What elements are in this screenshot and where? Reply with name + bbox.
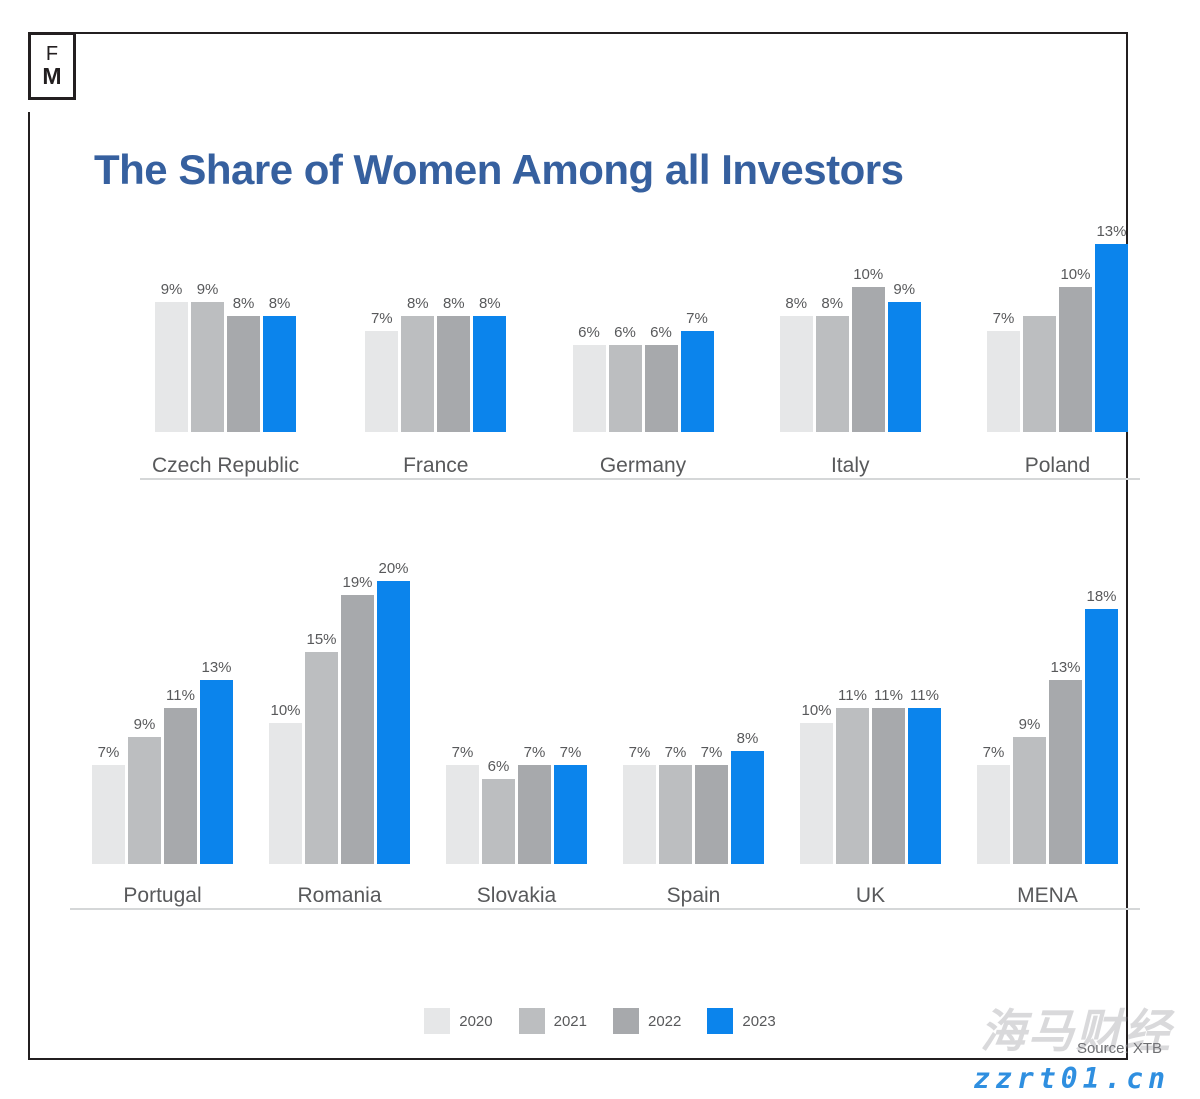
bar-column: 19% [341,595,374,864]
bar-value-label: 11% [838,687,867,704]
bar-group: 7%9%13%18%MENA [977,560,1118,908]
bar-2023 [263,316,296,432]
bar-column: 8% [227,316,260,432]
watermark-url: zzrt01.cn [973,1062,1170,1095]
bar-2020 [365,331,398,433]
bar-value-label: 7% [371,310,393,327]
bar-2022 [645,345,678,432]
chart-legend: 2020202120222023 [0,1008,1200,1034]
bar-group-bars: 7%6%7%7% [446,765,587,864]
bar-value-label: 11% [910,687,939,704]
bar-column: 13% [1049,680,1082,864]
bar-2023 [200,680,233,864]
bar-value-label: 18% [1086,588,1116,605]
bar-2020 [987,331,1020,433]
bar-2021 [1023,316,1056,432]
bar-value-label: 15% [306,631,336,648]
legend-item-2021[interactable]: 2021 [519,1008,587,1034]
bar-column: 20% [377,581,410,864]
bar-groups-row-1: 9%9%8%8%Czech Republic7%8%8%8%France6%6%… [140,240,1140,478]
bar-2022 [695,765,728,864]
bar-column: 9% [191,302,224,433]
bar-2022 [1059,287,1092,432]
bar-2021 [609,345,642,432]
bar-value-label: 7% [686,310,708,327]
category-label: Portugal [123,884,201,908]
bar-2023 [888,302,921,433]
bar-2020 [92,765,125,864]
bar-value-label: 10% [801,702,831,719]
bar-column: 11% [836,708,869,864]
bar-value-label: 9% [893,281,915,298]
bar-group: 7%10%13%Poland [987,240,1128,478]
bar-group-bars: 10%15%19%20% [269,581,410,864]
bar-value-label: 6% [578,324,600,341]
fm-logo: F M [28,32,76,100]
bar-column: 8% [437,316,470,432]
bar-2021 [401,316,434,432]
axis-baseline-row-2 [70,908,1140,910]
bar-2020 [800,723,833,865]
logo-letter-f: F [46,44,58,64]
bar-column: 10% [800,723,833,865]
bar-group: 6%6%6%7%Germany [573,240,714,478]
bar-2022 [341,595,374,864]
bar-value-label: 7% [629,744,651,761]
bar-column: 7% [92,765,125,864]
chart-row-2: 7%9%11%13%Portugal10%15%19%20%Romania7%6… [70,560,1140,912]
bar-groups-row-2: 7%9%11%13%Portugal10%15%19%20%Romania7%6… [70,560,1140,908]
bar-2020 [780,316,813,432]
bar-2020 [623,765,656,864]
bar-value-label: 7% [993,310,1015,327]
bar-value-label: 6% [488,758,510,775]
legend-label: 2022 [648,1013,681,1030]
bar-2023 [377,581,410,864]
bar-2022 [852,287,885,432]
frame-bottom-border [28,1058,1128,1060]
bar-value-label: 13% [201,659,231,676]
bar-value-label: 10% [270,702,300,719]
bar-value-label: 8% [269,295,291,312]
bar-column [1023,316,1056,432]
legend-label: 2020 [459,1013,492,1030]
bar-column: 10% [1059,287,1092,432]
bar-value-label: 8% [737,730,759,747]
bar-value-label: 6% [614,324,636,341]
bar-column: 13% [200,680,233,864]
bar-column: 9% [155,302,188,433]
bar-group-bars: 9%9%8%8% [155,302,296,433]
bar-value-label: 7% [98,744,120,761]
bar-2022 [872,708,905,864]
category-label: France [403,454,468,478]
category-label: Romania [297,884,381,908]
bar-column: 13% [1095,244,1128,433]
bar-group: 9%9%8%8%Czech Republic [152,240,299,478]
bar-value-label: 7% [524,744,546,761]
legend-swatch-icon [424,1008,450,1034]
bar-column: 15% [305,652,338,864]
bar-column: 11% [164,708,197,864]
category-label: Czech Republic [152,454,299,478]
bar-value-label: 10% [1060,266,1090,283]
bar-column: 7% [446,765,479,864]
bar-value-label: 8% [479,295,501,312]
bar-2021 [1013,737,1046,864]
bar-value-label: 10% [853,266,883,283]
bar-column: 7% [977,765,1010,864]
category-label: Spain [667,884,721,908]
bar-2023 [1095,244,1128,433]
bar-column: 7% [518,765,551,864]
bar-2021 [816,316,849,432]
bar-value-label: 8% [785,295,807,312]
bar-column: 8% [401,316,434,432]
bar-group-bars: 7%8%8%8% [365,316,506,432]
bar-value-label: 19% [342,574,372,591]
category-label: UK [856,884,885,908]
frame-top-border [28,32,1128,34]
bar-value-label: 9% [1019,716,1041,733]
category-label: Poland [1025,454,1090,478]
bar-value-label: 9% [197,281,219,298]
bar-2023 [554,765,587,864]
bar-column: 7% [659,765,692,864]
bar-column: 7% [623,765,656,864]
bar-group: 10%15%19%20%Romania [269,560,410,908]
bar-group: 7%7%7%8%Spain [623,560,764,908]
bar-2023 [473,316,506,432]
bar-column: 7% [695,765,728,864]
page-title: The Share of Women Among all Investors [94,146,903,194]
bar-2023 [908,708,941,864]
bar-2022 [437,316,470,432]
bar-group-bars: 7%10%13% [987,244,1128,433]
bar-column: 8% [473,316,506,432]
logo-letter-m: M [42,65,61,88]
bar-column: 8% [816,316,849,432]
bar-column: 6% [573,345,606,432]
bar-group-bars: 8%8%10%9% [780,287,921,432]
bar-value-label: 11% [166,687,195,704]
bar-column: 10% [269,723,302,865]
bar-column: 8% [780,316,813,432]
bar-2021 [128,737,161,864]
bar-value-label: 8% [443,295,465,312]
legend-swatch-icon [519,1008,545,1034]
bar-column: 10% [852,287,885,432]
bar-value-label: 9% [134,716,156,733]
axis-baseline-row-1 [140,478,1140,480]
bar-value-label: 9% [161,281,183,298]
bar-column: 9% [888,302,921,433]
bar-column: 7% [987,331,1020,433]
bar-group-bars: 6%6%6%7% [573,331,714,433]
bar-column: 18% [1085,609,1118,864]
bar-2020 [269,723,302,865]
bar-2023 [681,331,714,433]
bar-column: 6% [609,345,642,432]
bar-value-label: 7% [560,744,582,761]
bar-group-bars: 7%9%11%13% [92,680,233,864]
bar-column: 9% [128,737,161,864]
bar-column: 11% [872,708,905,864]
bar-value-label: 20% [378,560,408,577]
bar-2020 [155,302,188,433]
bar-2021 [305,652,338,864]
legend-item-2020[interactable]: 2020 [424,1008,492,1034]
bar-group-bars: 10%11%11%11% [800,708,941,864]
bar-value-label: 6% [650,324,672,341]
bar-group-bars: 7%7%7%8% [623,751,764,864]
bar-group: 10%11%11%11%UK [800,560,941,908]
bar-2022 [1049,680,1082,864]
bar-2022 [227,316,260,432]
bar-value-label: 8% [407,295,429,312]
bar-value-label: 8% [233,295,255,312]
bar-group: 8%8%10%9%Italy [780,240,921,478]
legend-label: 2021 [554,1013,587,1030]
bar-column: 6% [482,779,515,864]
category-label: MENA [1017,884,1078,908]
bar-column: 7% [681,331,714,433]
bar-value-label: 7% [452,744,474,761]
bar-2020 [446,765,479,864]
source-note: Source: XTB [1077,1040,1162,1057]
bar-column: 6% [645,345,678,432]
bar-value-label: 7% [665,744,687,761]
legend-swatch-icon [707,1008,733,1034]
bar-column: 7% [554,765,587,864]
bar-2022 [518,765,551,864]
category-label: Germany [600,454,686,478]
bar-2020 [573,345,606,432]
bar-column: 8% [731,751,764,864]
bar-value-label: 7% [701,744,723,761]
bar-2021 [191,302,224,433]
bar-2023 [1085,609,1118,864]
category-label: Italy [831,454,870,478]
legend-swatch-icon [613,1008,639,1034]
bar-column: 7% [365,331,398,433]
bar-2021 [482,779,515,864]
bar-2021 [659,765,692,864]
legend-label: 2023 [742,1013,775,1030]
category-label: Slovakia [477,884,556,908]
bar-2022 [164,708,197,864]
bar-column: 11% [908,708,941,864]
bar-2021 [836,708,869,864]
bar-group-bars: 7%9%13%18% [977,609,1118,864]
bar-2020 [977,765,1010,864]
frame-left-border [28,112,30,1060]
bar-column: 8% [263,316,296,432]
bar-value-label: 13% [1096,223,1126,240]
bar-value-label: 7% [983,744,1005,761]
bar-value-label: 8% [821,295,843,312]
legend-item-2023[interactable]: 2023 [707,1008,775,1034]
legend-item-2022[interactable]: 2022 [613,1008,681,1034]
bar-group: 7%8%8%8%France [365,240,506,478]
bar-value-label: 11% [874,687,903,704]
bar-group: 7%6%7%7%Slovakia [446,560,587,908]
chart-row-1: 9%9%8%8%Czech Republic7%8%8%8%France6%6%… [140,240,1140,482]
bar-group: 7%9%11%13%Portugal [92,560,233,908]
bar-column: 9% [1013,737,1046,864]
bar-2023 [731,751,764,864]
bar-value-label: 13% [1050,659,1080,676]
